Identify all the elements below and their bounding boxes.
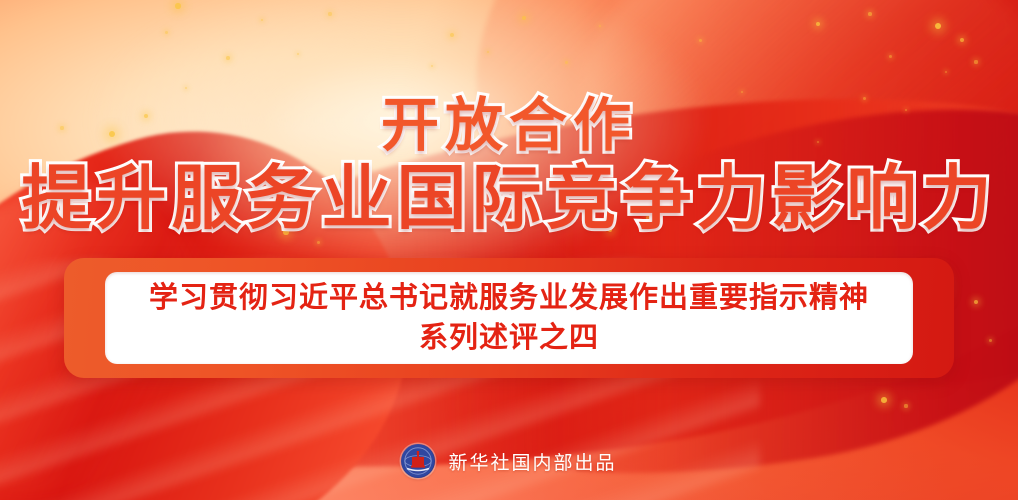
headline-line-1: 开放合作: [0, 96, 1018, 155]
credit-block: 新华社国内部出品: [0, 444, 1018, 478]
headline-block: 开放合作 提升服务业国际竞争力影响力: [0, 96, 1018, 235]
gold-particle: [699, 39, 702, 42]
subtitle-panel-inner: 学习贯彻习近平总书记就服务业发展作出重要指示精神 系列述评之四: [105, 272, 913, 364]
gold-particle: [868, 12, 872, 16]
gold-particle: [165, 31, 168, 34]
headline-line-2: 提升服务业国际竞争力影响力: [0, 163, 1018, 234]
gold-particle: [328, 12, 331, 15]
gold-particle: [935, 23, 941, 29]
gold-particle: [881, 397, 887, 403]
gold-particle: [226, 56, 230, 60]
credit-text: 新华社国内部出品: [448, 448, 616, 475]
gold-particle: [989, 339, 992, 342]
gold-particle: [974, 60, 977, 63]
gold-particle: [974, 300, 978, 304]
gold-particle: [960, 38, 964, 42]
gold-particle: [175, 3, 180, 8]
subtitle-line-1: 学习贯彻习近平总书记就服务业发展作出重要指示精神: [149, 278, 869, 318]
subtitle-line-2: 系列述评之四: [419, 318, 599, 358]
gold-particle: [904, 404, 907, 407]
gold-particle: [565, 61, 568, 64]
xinhua-agency-emblem-icon: [401, 444, 435, 478]
gold-particle: [889, 55, 892, 58]
subtitle-panel-frame: 学习贯彻习近平总书记就服务业发展作出重要指示精神 系列述评之四: [64, 258, 954, 378]
poster-canvas: 开放合作 提升服务业国际竞争力影响力 学习贯彻习近平总书记就服务业发展作出重要指…: [0, 0, 1018, 500]
gold-particle: [317, 241, 320, 244]
gold-particle: [450, 33, 454, 37]
